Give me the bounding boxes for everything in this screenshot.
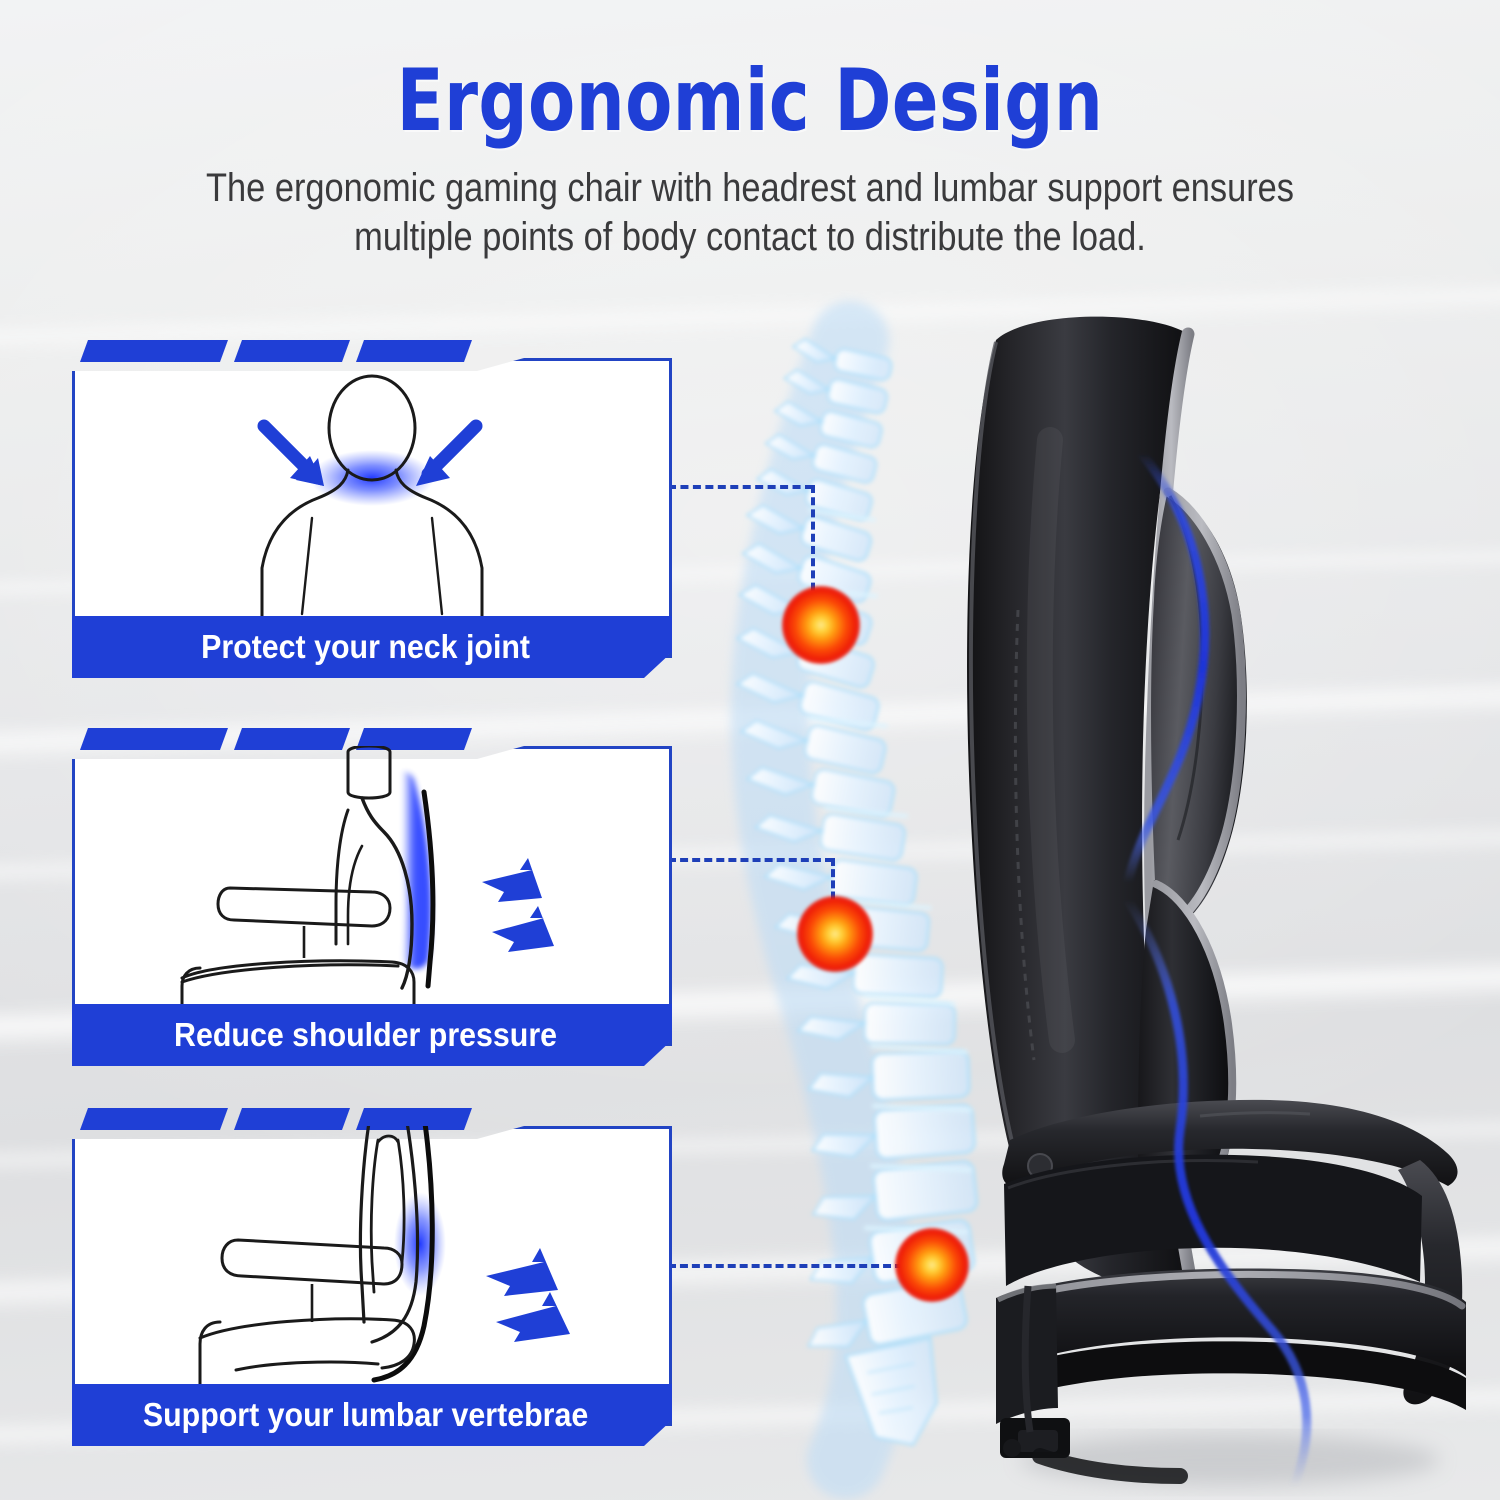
page-subtitle: The ergonomic gaming chair with headrest… <box>105 164 1395 262</box>
infographic-stage: Ergonomic Design The ergonomic gaming ch… <box>0 0 1500 1500</box>
card-footer: Support your lumbar vertebrae <box>72 1384 672 1446</box>
ergonomic-flow-curves <box>1120 430 1440 1500</box>
hotspot-lumbar <box>895 1228 969 1302</box>
card-footer: Reduce shoulder pressure <box>72 1004 672 1066</box>
side-chair-shoulder-icon <box>72 746 672 1004</box>
hotspot-cervical <box>782 586 860 664</box>
header: Ergonomic Design The ergonomic gaming ch… <box>0 0 1500 262</box>
card-label: Reduce shoulder pressure <box>96 1004 648 1066</box>
page-title: Ergonomic Design <box>150 58 1350 144</box>
card-label: Support your lumbar vertebrae <box>96 1384 648 1446</box>
side-chair-lumbar-icon <box>72 1126 672 1384</box>
front-torso-neck-icon <box>72 358 672 616</box>
hotspot-thoracic <box>797 896 873 972</box>
card-label: Protect your neck joint <box>96 616 648 678</box>
card-footer: Protect your neck joint <box>72 616 672 678</box>
